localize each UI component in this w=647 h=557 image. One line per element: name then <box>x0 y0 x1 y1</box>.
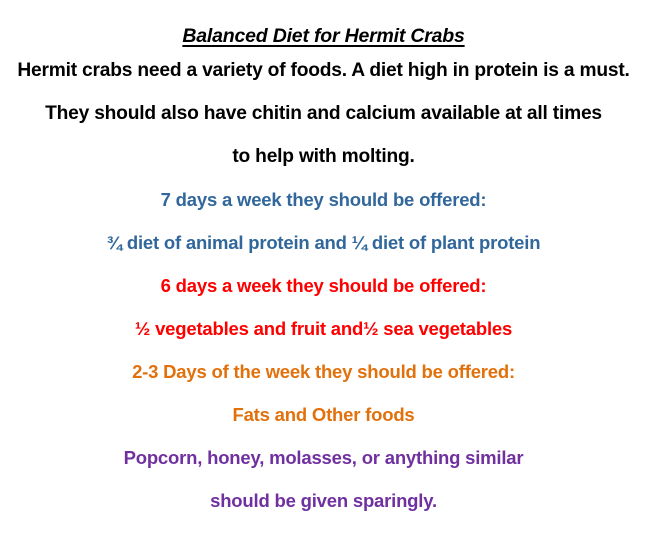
document-page: Balanced Diet for Hermit Crabs Hermit cr… <box>0 23 647 557</box>
document-title: Balanced Diet for Hermit Crabs <box>0 23 647 49</box>
intro-line-1: Hermit crabs need a variety of foods. A … <box>0 49 647 92</box>
section-sparingly-heading: Popcorn, honey, molasses, or anything si… <box>0 436 647 479</box>
section-two-three-days-heading: 2-3 Days of the week they should be offe… <box>0 350 647 393</box>
section-seven-days-detail: ¾ diet of animal protein and ¼ diet of p… <box>0 221 647 264</box>
section-two-three-days-detail: Fats and Other foods <box>0 393 647 436</box>
intro-line-3: to help with molting. <box>0 135 647 178</box>
section-seven-days-heading: 7 days a week they should be offered: <box>0 178 647 221</box>
intro-line-2: They should also have chitin and calcium… <box>0 92 647 135</box>
section-six-days-heading: 6 days a week they should be offered: <box>0 264 647 307</box>
section-six-days-detail: ½ vegetables and fruit and½ sea vegetabl… <box>0 307 647 350</box>
document-title-text: Balanced Diet for Hermit Crabs <box>182 25 464 47</box>
section-sparingly-detail: should be given sparingly. <box>0 479 647 522</box>
